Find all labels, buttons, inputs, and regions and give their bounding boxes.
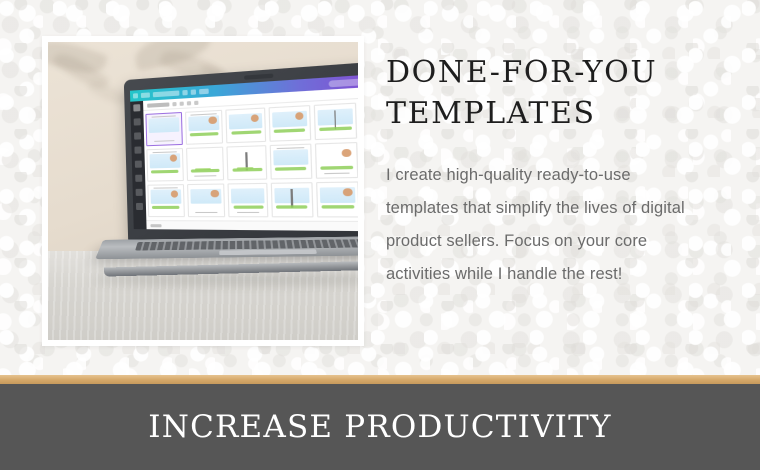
sidebar-item-draw (135, 175, 142, 182)
sidebar-item-elements (134, 118, 141, 125)
thumb-grass (190, 132, 219, 137)
editor-statusbar (146, 220, 358, 231)
template-thumbnail (186, 147, 225, 181)
comment-icon (187, 101, 191, 105)
page-title: Done-for-you templates (386, 52, 706, 135)
delete-page-icon (194, 100, 198, 104)
thumb-grass (191, 169, 220, 173)
editor-resize-button (199, 89, 209, 95)
thumb-grass (231, 130, 261, 135)
laptop-keyboard (135, 239, 358, 250)
thumb-badge (209, 116, 217, 124)
template-thumbnail (145, 112, 182, 146)
photo-card (42, 36, 364, 346)
editor-undo-icon (182, 90, 187, 95)
thumb-line (195, 175, 216, 177)
template-thumbnail (270, 144, 312, 180)
thumb-line (154, 140, 175, 142)
thumb-badge (170, 190, 178, 198)
thumb-grass (320, 166, 353, 171)
page-title-label (147, 102, 169, 107)
editor-home-icon (133, 93, 138, 98)
template-thumbnail (313, 103, 357, 141)
laptop-keyboard-deck (95, 236, 358, 259)
laptop-trackpad (219, 249, 317, 255)
laptop-device (124, 59, 358, 247)
template-thumbnail-grid (143, 96, 358, 221)
laptop-screen (130, 72, 358, 231)
thumb-sky (149, 117, 179, 132)
editor-file-menu (141, 92, 150, 98)
template-thumbnail (187, 183, 226, 217)
thumb-line (325, 172, 350, 174)
footer-banner: Increase Productivity (0, 384, 760, 470)
thumb-grass (151, 170, 178, 174)
footer-label: Increase Productivity (148, 409, 611, 445)
body-paragraph: I create high-quality ready-to-use templ… (386, 159, 686, 291)
thumb-line (237, 211, 259, 213)
template-thumbnail (147, 184, 184, 217)
template-thumbnail (226, 107, 266, 143)
template-thumbnail (316, 181, 358, 217)
editor-redo-icon (191, 89, 196, 95)
sidebar-item-projects (136, 189, 143, 196)
editor-body (130, 85, 358, 232)
thumb-sky (273, 149, 308, 165)
thumb-grass (232, 168, 262, 172)
thumb-badge (211, 190, 219, 198)
thumb-grass (276, 205, 307, 209)
thumb-grass (152, 206, 180, 210)
notes-button (150, 224, 161, 227)
duplicate-page-icon (172, 101, 176, 105)
sidebar-item-text (134, 132, 141, 139)
template-thumbnail (269, 105, 311, 142)
template-thumbnail (228, 183, 269, 218)
editor-document-title (153, 90, 180, 97)
template-thumbnail (314, 142, 358, 179)
sidebar-item-design (133, 104, 140, 111)
slide-canvas: Done-for-you templates I create high-qua… (0, 0, 760, 470)
laptop-camera-icon (244, 74, 273, 80)
text-column: Done-for-you templates I create high-qua… (386, 52, 706, 291)
thumb-grass (275, 167, 306, 172)
editor-canvas-area (143, 85, 358, 232)
thumb-grass (319, 126, 352, 131)
sidebar-item-uploads (135, 161, 142, 168)
thumb-badge (342, 149, 351, 158)
thumb-line (196, 211, 217, 213)
template-thumbnail (185, 110, 224, 145)
thumb-grass (274, 128, 305, 133)
thumb-grass (233, 205, 263, 209)
thumb-sky (231, 188, 264, 203)
sidebar-item-apps (136, 203, 143, 210)
template-thumbnail (271, 182, 313, 217)
editor-share-button (329, 77, 358, 86)
lock-page-icon (180, 101, 184, 105)
template-thumbnail (146, 148, 183, 182)
sidebar-item-brand (134, 146, 141, 153)
template-thumbnail (227, 145, 268, 180)
accent-bar (0, 375, 760, 384)
laptop-photo (48, 42, 358, 340)
laptop-lid (124, 59, 358, 247)
thumb-badge (343, 188, 352, 196)
thumb-grass (322, 205, 355, 209)
